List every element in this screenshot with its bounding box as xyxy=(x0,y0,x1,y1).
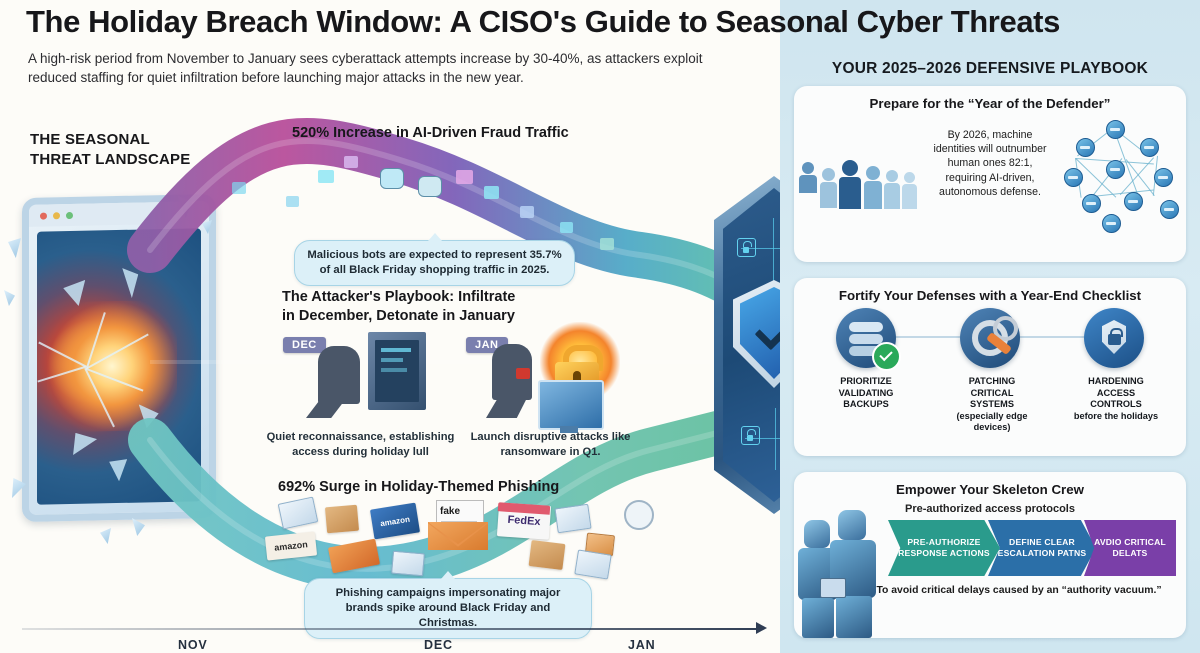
cl3-line3: CONTROLS xyxy=(1090,399,1142,409)
stream-1-heading: 520% Increase in AI-Driven Fraud Traffic xyxy=(292,124,622,143)
left-panel: 520% Increase in AI-Driven Fraud Traffic… xyxy=(0,0,780,653)
backup-validation-icon xyxy=(836,308,896,368)
cl2-line4: (especially edge devices) xyxy=(957,411,1028,433)
cl1-line1: PRIORITIZE xyxy=(840,376,892,386)
package-box-icon-2 xyxy=(529,540,566,570)
section-label-line2: THREAT LANDSCAPE xyxy=(30,151,190,168)
card-1-heading: Prepare for the “Year of the Defender” xyxy=(794,96,1186,111)
machine-identity-icon xyxy=(798,162,818,184)
card-3-footer: To avoid critical delays caused by an “a… xyxy=(874,584,1164,598)
cl1-line2: VALIDATING xyxy=(839,388,894,398)
page-title: The Holiday Breach Window: A CISO's Guid… xyxy=(26,2,1186,42)
cl3-line4: before the holidays xyxy=(1074,411,1158,421)
card-2-heading: Fortify Your Defenses with a Year-End Ch… xyxy=(794,288,1186,303)
stream-3-heading: 692% Surge in Holiday-Themed Phishing xyxy=(278,478,618,497)
timeline-label-nov: NOV xyxy=(178,638,208,652)
checklist-label-3: HARDENING ACCESS CONTROLS before the hol… xyxy=(1066,376,1166,422)
cl2-line3: SYSTEMS xyxy=(970,399,1014,409)
step-chevron-1[interactable]: PRE-AUTHORIZE RESPONSE ACTIONS xyxy=(888,520,1000,576)
card-year-end-checklist: Fortify Your Defenses with a Year-End Ch… xyxy=(794,278,1186,456)
cl2-line2: CRITICAL xyxy=(971,388,1014,398)
email-envelope-icon-5 xyxy=(574,549,611,579)
email-envelope-icon-3 xyxy=(554,504,591,533)
timeline-label-dec: DEC xyxy=(424,638,453,652)
right-panel: YOUR 2025–2026 DEFENSIVE PLAYBOOK Prepar… xyxy=(780,0,1200,653)
step-chevron-3[interactable]: AVDIO CRITICAL DELATS xyxy=(1084,520,1176,576)
stream-2-caption-1: Quiet reconnaissance, establishing acces… xyxy=(258,430,463,459)
red-flag-icon xyxy=(516,368,530,379)
door-light-3 xyxy=(381,368,407,372)
hacker-silhouette-1 xyxy=(318,346,360,404)
bot-face-icon-2 xyxy=(418,176,442,197)
package-box-icon xyxy=(325,505,359,534)
cl3-line1: HARDENING xyxy=(1088,376,1144,386)
page-subtitle: A high-risk period from November to Janu… xyxy=(28,50,748,87)
stream-1-callout: Malicious bots are expected to represent… xyxy=(294,240,575,286)
network-mesh-icon xyxy=(1062,116,1182,234)
lock-chip-icon-1 xyxy=(737,238,756,257)
infographic-page: 520% Increase in AI-Driven Fraud Traffic… xyxy=(0,0,1200,653)
card-skeleton-crew: Empower Your Skeleton Crew Pre-authorize… xyxy=(794,472,1186,638)
section-label-line1: THE SEASONAL xyxy=(30,131,150,148)
month-badge-dec: DEC xyxy=(283,337,326,353)
step-chevron-2[interactable]: DEFINE CLEAR ESCALATION PATNS xyxy=(988,520,1096,576)
checklist-label-2: PATCHING CRITICAL SYSTEMS (especially ed… xyxy=(940,376,1044,434)
stream-2-caption-2: Launch disruptive attacks like ransomwar… xyxy=(468,430,633,459)
gift-swirl-icon xyxy=(624,500,654,530)
patching-gear-icon xyxy=(960,308,1020,368)
playbook-title: YOUR 2025–2026 DEFENSIVE PLAYBOOK xyxy=(780,60,1200,78)
open-envelope-fake-icon: fake xyxy=(428,500,488,550)
card-3-heading: Empower Your Skeleton Crew xyxy=(794,482,1186,497)
defense-shield-graphic xyxy=(714,176,780,514)
card-1-body: By 2026, machine identities will outnumb… xyxy=(932,128,1048,199)
timeline-label-jan: JAN xyxy=(628,638,655,652)
door-light-2 xyxy=(381,358,403,362)
timeline-arrowhead xyxy=(756,622,767,634)
threat-flow-streams xyxy=(0,0,780,653)
timeline-axis xyxy=(22,628,762,630)
email-envelope-icon-2 xyxy=(391,551,425,577)
people-group-icon xyxy=(820,152,930,210)
compromised-monitor-icon xyxy=(538,380,604,430)
cl2-line1: PATCHING xyxy=(969,376,1016,386)
card-year-of-the-defender: Prepare for the “Year of the Defender” B… xyxy=(794,86,1186,262)
section-label: THE SEASONAL THREAT LANDSCAPE xyxy=(30,130,260,170)
access-hardening-icon xyxy=(1084,308,1144,368)
lock-chip-icon-3 xyxy=(741,426,760,445)
cl1-line3: BACKUPS xyxy=(843,399,888,409)
stream-2-heading: The Attacker's Playbook: Infiltrate in D… xyxy=(282,288,532,326)
checkmark-icon xyxy=(755,307,780,351)
door-light-1 xyxy=(381,348,411,352)
robot-crew-icon xyxy=(798,504,890,638)
cl3-line2: ACCESS xyxy=(1097,388,1135,398)
checklist-label-1: PRIORITIZE VALIDATING BACKUPS xyxy=(816,376,916,411)
bot-face-icon xyxy=(380,168,404,189)
